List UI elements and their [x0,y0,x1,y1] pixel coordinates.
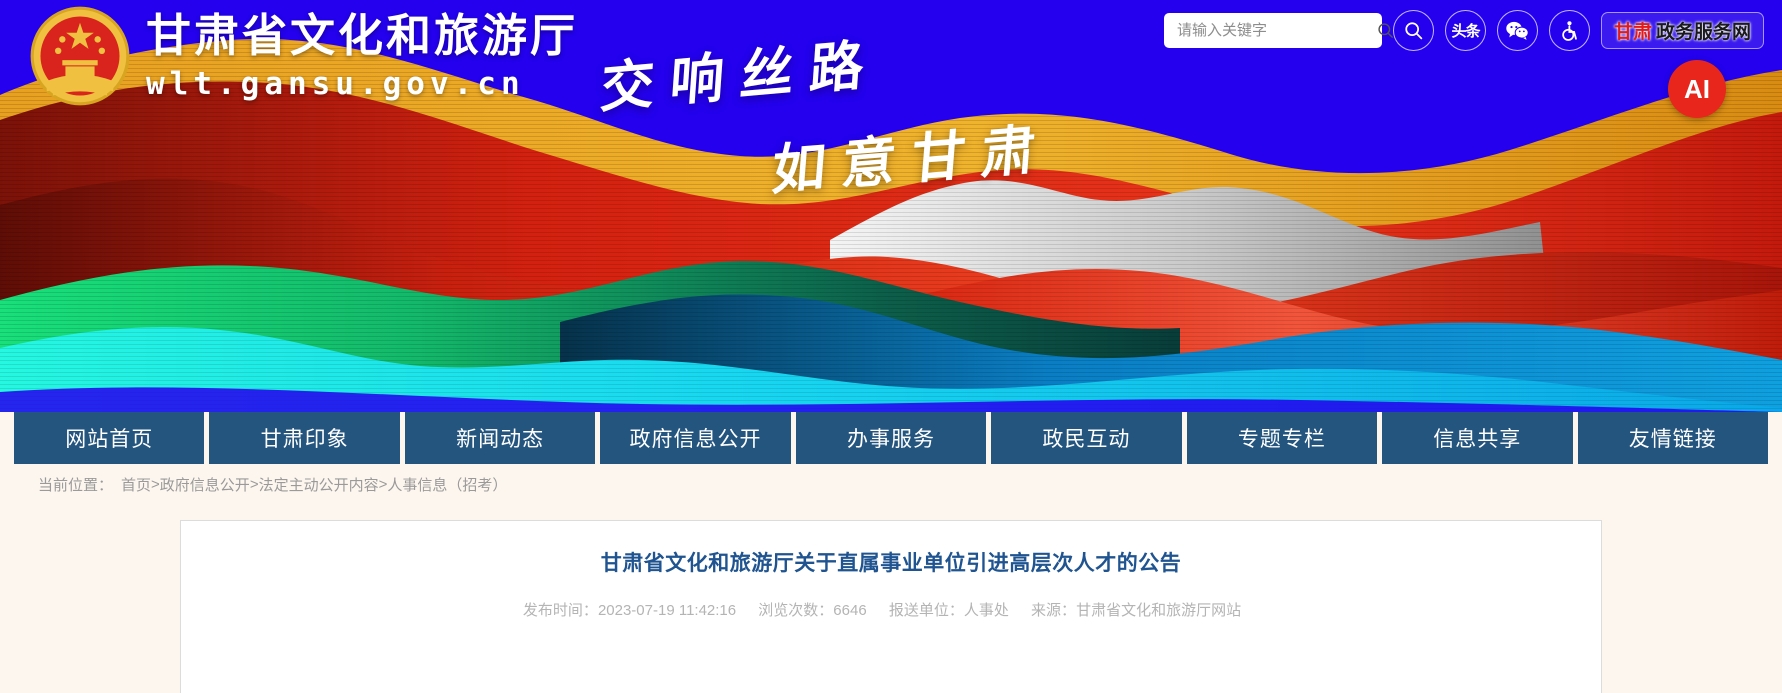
meta-publish-label: 发布时间： [523,602,598,619]
site-banner: 甘肃省文化和旅游厅 wlt.gansu.gov.cn 交响丝路 如意甘肃 头条 [0,0,1782,412]
gov-badge-prefix: 甘肃 [1614,17,1652,44]
search-box[interactable] [1164,13,1382,48]
breadcrumb-separator: > [151,476,160,493]
nav-item-sharing[interactable]: 信息共享 [1382,412,1572,464]
nav-item-interaction[interactable]: 政民互动 [991,412,1181,464]
article-meta: 发布时间：2023-07-19 11:42:16 浏览次数：6646 报送单位：… [221,599,1561,620]
nav-item-gov-info[interactable]: 政府信息公开 [600,412,790,464]
search-circle-button[interactable] [1393,10,1434,51]
nav-item-impression[interactable]: 甘肃印象 [209,412,399,464]
gansu-gov-service-badge[interactable]: 甘肃 政务服务网 [1601,12,1764,49]
accessibility-button[interactable] [1549,10,1590,51]
meta-views-value: 6646 [833,602,866,619]
banner-calligraphy: 交响丝路 如意甘肃 [600,24,1052,194]
nav-item-topics[interactable]: 专题专栏 [1187,412,1377,464]
calligraphy-line-2: 如意甘肃 [769,104,1054,206]
meta-source-value: 甘肃省文化和旅游厅网站 [1076,602,1241,619]
nav-item-services[interactable]: 办事服务 [796,412,986,464]
article-card: 甘肃省文化和旅游厅关于直属事业单位引进高层次人才的公告 发布时间：2023-07… [180,520,1602,693]
nav-item-news[interactable]: 新闻动态 [405,412,595,464]
article-title: 甘肃省文化和旅游厅关于直属事业单位引进高层次人才的公告 [221,547,1561,577]
gov-badge-text: 政务服务网 [1656,17,1751,44]
meta-views: 浏览次数：6646 [758,602,866,619]
nav-item-home[interactable]: 网站首页 [14,412,204,464]
nav-item-links[interactable]: 友情链接 [1578,412,1768,464]
site-logo-block[interactable]: 甘肃省文化和旅游厅 wlt.gansu.gov.cn [28,4,578,108]
meta-views-label: 浏览次数： [758,602,833,619]
toutiao-button[interactable]: 头条 [1445,10,1486,51]
breadcrumb-link-3[interactable]: 人事信息（招考） [387,474,507,495]
meta-publish-time: 发布时间：2023-07-19 11:42:16 [523,602,736,619]
breadcrumb: 当前位置： 首页 > 政府信息公开 > 法定主动公开内容 > 人事信息（招考） [0,464,1782,504]
site-title: 甘肃省文化和旅游厅 [146,13,578,58]
wechat-icon [1505,20,1529,41]
main-navigation: 网站首页 甘肃印象 新闻动态 政府信息公开 办事服务 政民互动 专题专栏 信息共… [0,412,1782,464]
meta-submitter: 报送单位：人事处 [889,602,1009,619]
breadcrumb-separator: > [379,476,388,493]
meta-submitter-label: 报送单位： [889,602,964,619]
breadcrumb-link-0[interactable]: 首页 [121,474,151,495]
site-url: wlt.gansu.gov.cn [146,69,578,100]
meta-submitter-value: 人事处 [964,602,1009,619]
toutiao-label: 头条 [1451,20,1479,41]
breadcrumb-link-1[interactable]: 政府信息公开 [160,474,250,495]
content-wrapper: 甘肃省文化和旅游厅关于直属事业单位引进高层次人才的公告 发布时间：2023-07… [0,504,1782,693]
meta-publish-value: 2023-07-19 11:42:16 [598,602,736,619]
breadcrumb-label: 当前位置： [38,474,113,495]
wheelchair-icon [1558,20,1580,42]
national-emblem-icon [28,4,132,108]
breadcrumb-link-2[interactable]: 法定主动公开内容 [259,474,379,495]
wechat-button[interactable] [1497,10,1538,51]
ai-assistant-button[interactable]: AI [1668,60,1726,118]
search-input[interactable] [1177,22,1376,39]
meta-source: 来源：甘肃省文化和旅游厅网站 [1031,602,1241,619]
breadcrumb-separator: > [250,476,259,493]
header-tools: 头条 甘肃 政务服务网 [1164,10,1764,51]
meta-source-label: 来源： [1031,602,1076,619]
search-icon [1403,20,1424,41]
